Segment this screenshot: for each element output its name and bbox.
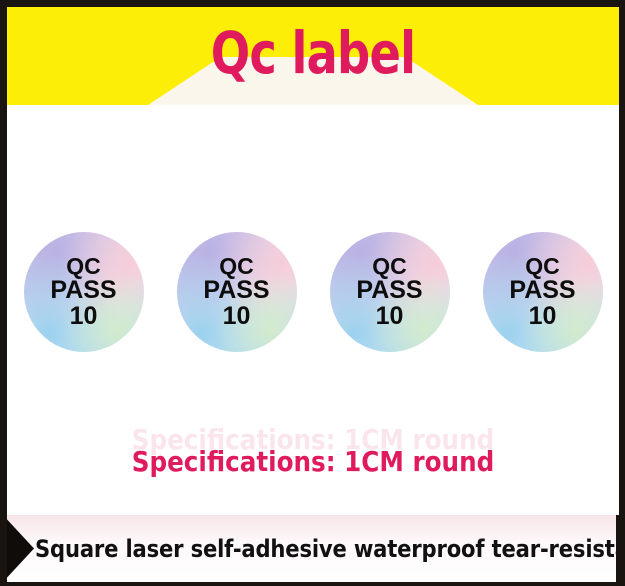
header-banner: Qc label [7, 7, 619, 105]
frame-border-bottom [0, 582, 625, 586]
qc-pass-sticker: QC PASS 10 [483, 232, 603, 352]
footer-bar: Square laser self-adhesive waterproof te… [7, 515, 619, 582]
content-body: QC PASS 10 QC PASS 10 QC PASS 10 QC PASS… [7, 105, 619, 510]
footer-caption: Square laser self-adhesive waterproof te… [35, 515, 542, 582]
sticker-line-qc: QC [66, 255, 101, 278]
sticker-line-pass: PASS [203, 278, 269, 304]
sticker-row: QC PASS 10 QC PASS 10 QC PASS 10 QC PASS… [7, 232, 619, 352]
qc-pass-sticker: QC PASS 10 [177, 232, 297, 352]
qc-label-product-banner: Qc label QC PASS 10 QC PASS 10 QC PASS 1… [0, 0, 625, 586]
sticker-line-number: 10 [223, 304, 251, 330]
sticker-line-qc: QC [525, 255, 560, 278]
sticker-line-pass: PASS [356, 278, 422, 304]
sticker-line-number: 10 [376, 304, 404, 330]
frame-border-left [0, 0, 7, 586]
qc-pass-sticker: QC PASS 10 [330, 232, 450, 352]
qc-pass-sticker: QC PASS 10 [24, 232, 144, 352]
page-title: Qc label [68, 7, 558, 105]
sticker-line-number: 10 [70, 304, 98, 330]
sticker-line-qc: QC [219, 255, 254, 278]
sticker-line-pass: PASS [509, 278, 575, 304]
frame-border-top [0, 0, 625, 7]
frame-border-right [619, 0, 625, 586]
sticker-line-number: 10 [529, 304, 557, 330]
specifications-text: Specifications: 1CM round [44, 445, 583, 478]
sticker-line-pass: PASS [50, 278, 116, 304]
sticker-line-qc: QC [372, 255, 407, 278]
